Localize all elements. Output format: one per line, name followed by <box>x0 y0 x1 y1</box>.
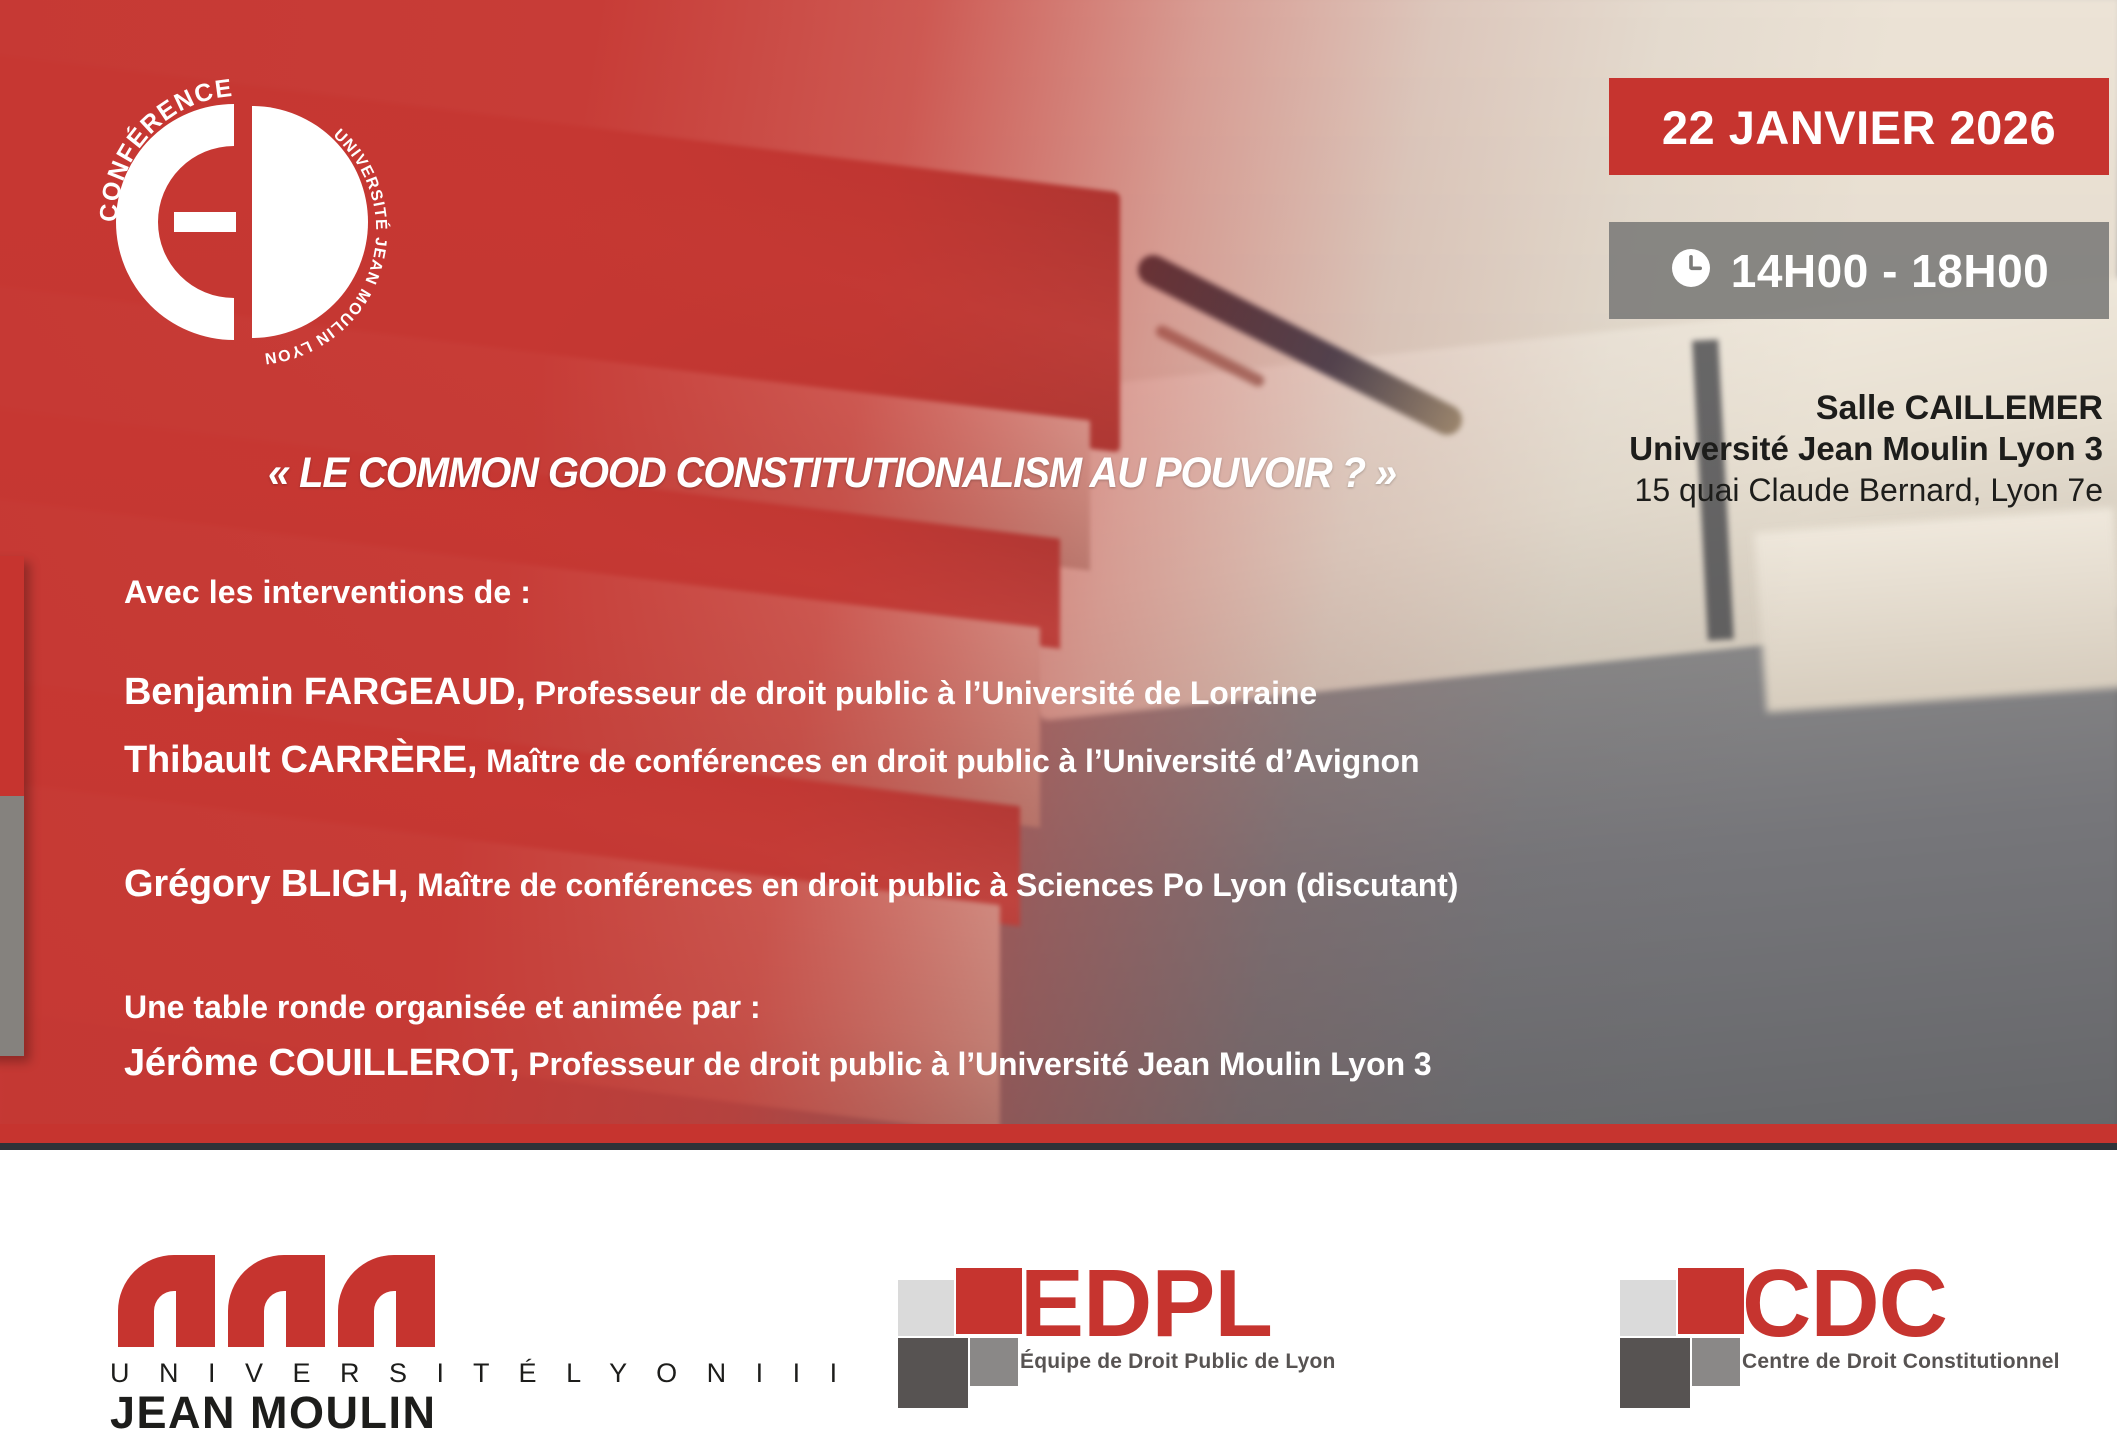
side-accent-gray <box>0 796 24 1056</box>
lyon3-arches-icon <box>110 1255 500 1347</box>
logo-universite-jean-moulin-lyon3: U N I V E R S I T É L Y O N I I I JEAN M… <box>110 1255 848 1436</box>
event-date: 22 JANVIER 2026 <box>1649 104 2069 151</box>
organiser-name: Jérôme COUILLEROT, <box>124 1042 519 1084</box>
time-badge: 14H00 - 18H00 <box>1609 222 2109 319</box>
speaker-name: Thibault CARRÈRE, <box>124 739 477 781</box>
poster-bottom-dark-line <box>0 1143 2117 1150</box>
cdc-square-mid <box>1692 1338 1740 1386</box>
organiser-spacer <box>124 933 1684 989</box>
side-accent-red <box>0 556 24 796</box>
venue-room: Salle CAILLEMER <box>1629 388 2103 429</box>
speaker-row: Thibault CARRÈRE, Maître de conférences … <box>124 741 1684 781</box>
speaker-role: Professeur de droit public à l’Universit… <box>526 675 1317 711</box>
logo-cdc: CDC Centre de Droit Constitutionnel <box>1620 1262 2060 1386</box>
speaker-name: Grégory BLIGH, <box>124 863 408 905</box>
speaker-row: Benjamin FARGEAUD, Professeur de droit p… <box>124 673 1684 713</box>
edpl-square-light <box>898 1280 954 1336</box>
cdc-square-dark <box>1620 1338 1690 1408</box>
speakers-intro: Avec les interventions de : <box>124 574 1684 611</box>
edpl-square-red <box>956 1268 1022 1334</box>
speakers-block: Avec les interventions de : Benjamin FAR… <box>124 574 1684 1112</box>
event-time: 14H00 - 18H00 <box>1731 248 2049 294</box>
conference-logo: CONFÉRENCE UNIVERSITÉ JEAN MOULIN LYON 3 <box>82 62 402 382</box>
edpl-subtitle: Équipe de Droit Public de Lyon <box>1020 1350 1336 1374</box>
lyon3-line-2: JEAN MOULIN <box>110 1389 848 1436</box>
cdc-squares-icon <box>1620 1268 1738 1386</box>
venue-address: 15 quai Claude Bernard, Lyon 7e <box>1629 470 2103 510</box>
speakers-spacer <box>124 809 1684 865</box>
poster-hero: CONFÉRENCE UNIVERSITÉ JEAN MOULIN LYON 3… <box>0 0 2117 1150</box>
organiser-row: Jérôme COUILLEROT, Professeur de droit p… <box>124 1044 1684 1084</box>
logo-edpl: EDPL Équipe de Droit Public de Lyon <box>898 1262 1336 1386</box>
venue-block: Salle CAILLEMER Université Jean Moulin L… <box>1629 388 2103 510</box>
cdc-square-light <box>1620 1280 1676 1336</box>
lyon3-line-1: U N I V E R S I T É L Y O N I I I <box>110 1358 848 1389</box>
clock-icon <box>1669 246 1713 295</box>
organiser-role: Professeur de droit public à l’Universit… <box>519 1046 1431 1082</box>
cdc-square-red <box>1678 1268 1744 1334</box>
speaker-role: Maître de conférences en droit public à … <box>477 743 1419 779</box>
speaker-row: Grégory BLIGH, Maître de conférences en … <box>124 865 1684 905</box>
edpl-square-dark <box>898 1338 968 1408</box>
edpl-squares-icon <box>898 1268 1016 1386</box>
organiser-intro: Une table ronde organisée et animée par … <box>124 989 1684 1026</box>
edpl-acronym: EDPL <box>1020 1262 1336 1346</box>
cdc-subtitle: Centre de Droit Constitutionnel <box>1742 1350 2060 1374</box>
cdc-acronym: CDC <box>1742 1262 2060 1346</box>
edpl-square-mid <box>970 1338 1018 1386</box>
speaker-name: Benjamin FARGEAUD, <box>124 671 526 713</box>
page-title: « LE COMMON GOOD CONSTITUTIONALISM AU PO… <box>268 449 1396 498</box>
side-accent-blocks <box>0 556 24 1056</box>
venue-institution: Université Jean Moulin Lyon 3 <box>1629 429 2103 469</box>
speaker-role: Maître de conférences en droit public à … <box>408 867 1458 903</box>
date-badge: 22 JANVIER 2026 <box>1609 78 2109 175</box>
